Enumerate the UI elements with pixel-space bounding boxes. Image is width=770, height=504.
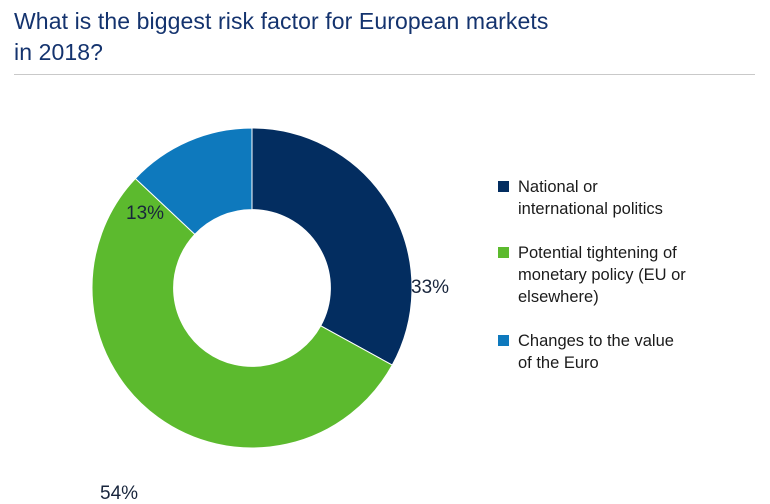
legend-swatch-green-icon [498,247,509,258]
legend-label-national-politics: National or international politics [518,176,663,220]
donut-graphic [92,128,412,448]
legend-item-national-politics: National or international politics [498,176,748,220]
donut-chart: 33% 54% 13% [0,80,470,469]
page-title: What is the biggest risk factor for Euro… [14,6,744,68]
legend-label-monetary-policy: Potential tightening of monetary policy … [518,242,686,308]
donut-svg [92,128,412,448]
chart-legend: National or international politics Poten… [498,176,748,374]
chart-page: What is the biggest risk factor for Euro… [0,0,770,469]
slice-label-navy: 33% [411,278,449,298]
legend-item-euro-value: Changes to the value of the Euro [498,330,748,374]
slice-label-blue: 13% [126,204,164,224]
legend-label-euro-value: Changes to the value of the Euro [518,330,674,374]
slice-label-green: 54% [100,484,138,504]
legend-swatch-navy-icon [498,181,509,192]
donut-slice [252,128,412,365]
header-divider [14,74,755,75]
legend-item-monetary-policy: Potential tightening of monetary policy … [498,242,748,308]
legend-swatch-blue-icon [498,335,509,346]
